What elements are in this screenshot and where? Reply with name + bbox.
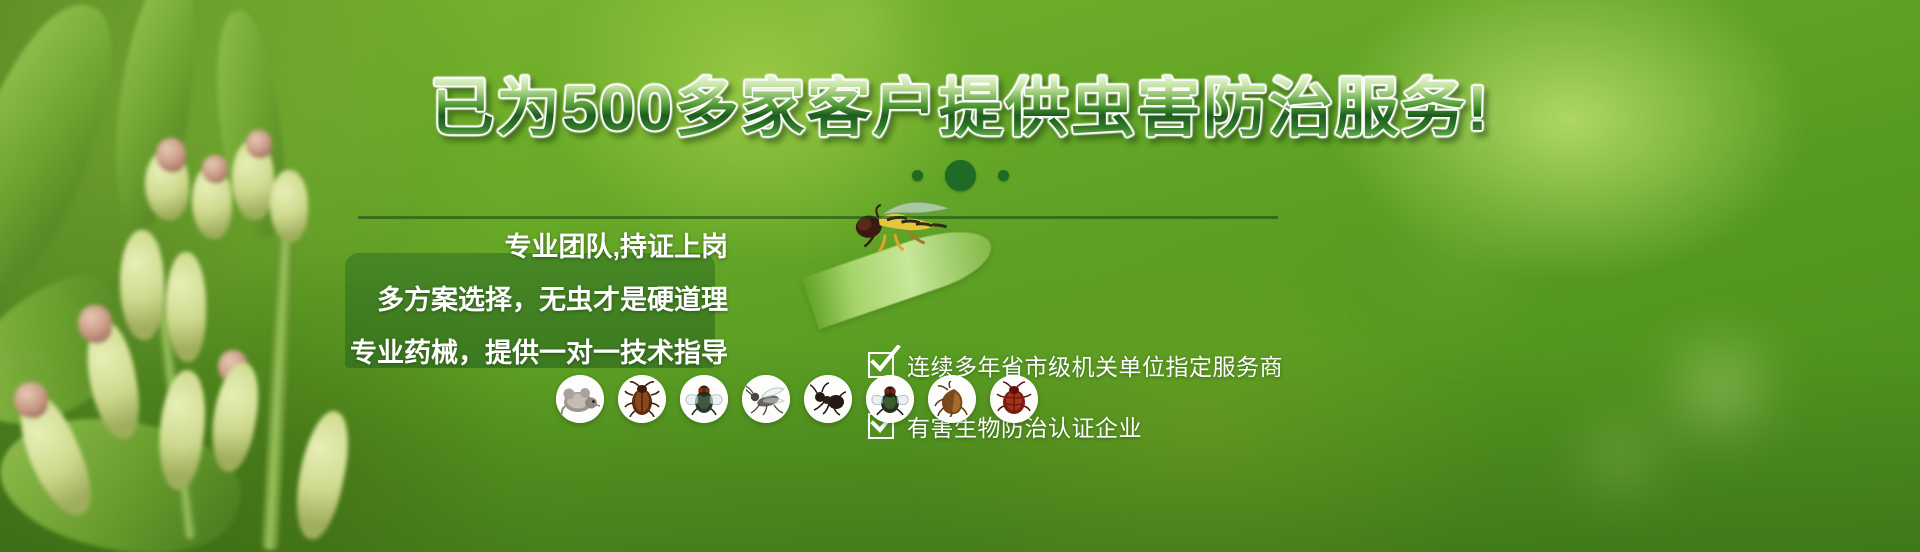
selling-point-2: 多方案选择，无虫才是硬道理	[377, 278, 728, 317]
bedbug-icon	[990, 375, 1038, 423]
pest-icon-row	[556, 375, 1038, 423]
dot-large-center	[945, 160, 976, 191]
selling-points-list: 专业团队,持证上岗 多方案选择，无虫才是硬道理 专业药械，提供一对一技术指导	[330, 212, 750, 382]
cockroach-icon	[618, 375, 666, 423]
ant-icon	[804, 375, 852, 423]
selling-point-1: 专业团队,持证上岗	[504, 225, 728, 264]
flea-icon	[928, 375, 976, 423]
decorative-dots	[0, 160, 1920, 191]
housefly-icon	[866, 375, 914, 423]
mosquito-icon	[742, 375, 790, 423]
mouse-icon	[556, 375, 604, 423]
dot-small-right	[998, 170, 1009, 181]
fly-icon	[680, 375, 728, 423]
page-title: 已为500多家客户提供虫害防治服务!	[0, 76, 1920, 140]
pest-control-hero-banner: 已为500多家客户提供虫害防治服务! 专业团队,持证上岗 多方案选择，无虫才是硬…	[0, 0, 1920, 552]
dot-small-left	[912, 170, 923, 181]
selling-point-3: 专业药械，提供一对一技术指导	[350, 331, 728, 370]
